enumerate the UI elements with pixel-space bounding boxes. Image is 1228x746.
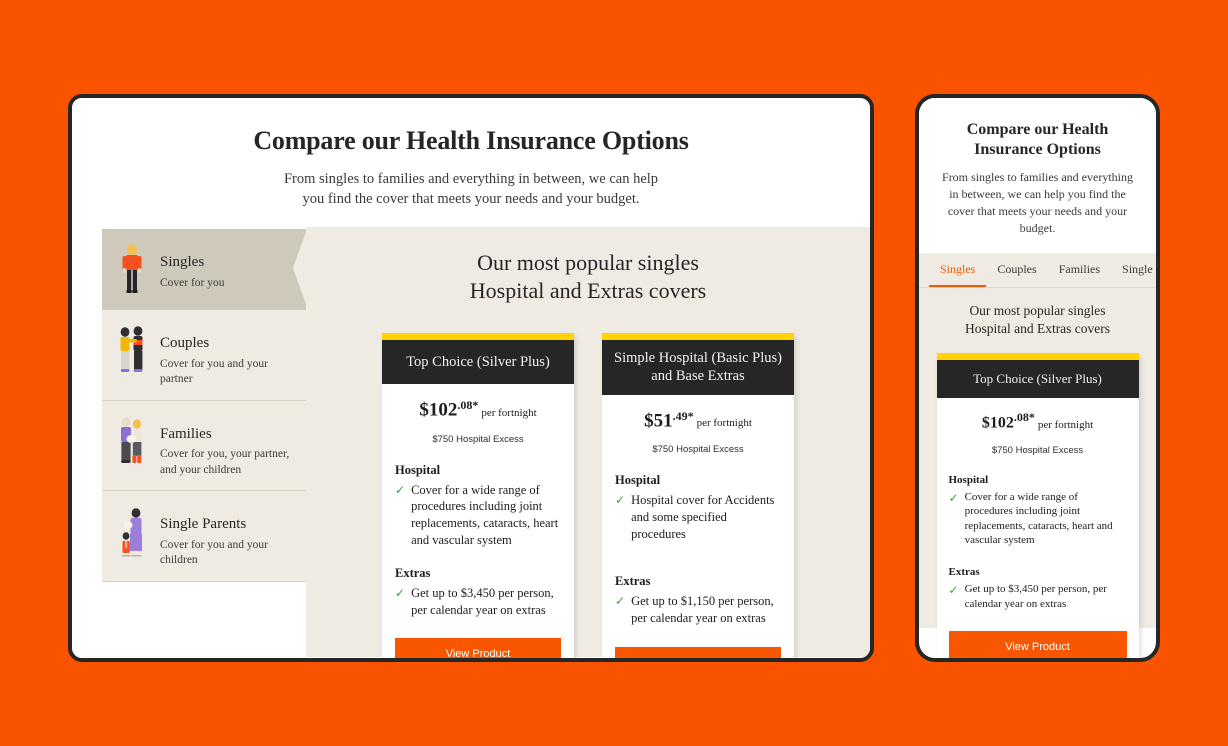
sidebar-item-couples-text: Couples Cover for you and your partner <box>160 322 296 388</box>
plan-price-cents: .08* <box>1014 410 1035 424</box>
hospital-feature: ✓ Hospital cover for Accidents and some … <box>615 492 781 542</box>
plan-name: Top Choice (Silver Plus) <box>937 360 1139 398</box>
plan-excess: $750 Hospital Excess <box>615 444 781 455</box>
extras-feature: ✓ Get up to $3,450 per person, per calen… <box>395 585 561 618</box>
page-root: Compare our Health Insurance Options Fro… <box>0 0 1228 746</box>
hospital-feature: ✓ Cover for a wide range of procedures i… <box>395 482 561 549</box>
hospital-section-label: Hospital <box>949 474 1127 486</box>
sidebar-item-label: Singles <box>160 254 225 271</box>
plans-heading-line-1: Our most popular singles <box>332 249 844 277</box>
plan-card: Simple Hospital (Basic Plus) and Base Ex… <box>602 333 794 662</box>
mobile-page-title-line-2: Insurance Options <box>941 140 1134 160</box>
view-product-button[interactable]: View Product <box>949 631 1127 662</box>
plan-price-dollars: $102 <box>982 415 1014 432</box>
page-subtitle: From singles to families and everything … <box>132 169 810 209</box>
check-icon: ✓ <box>949 582 959 611</box>
check-icon: ✓ <box>395 585 405 618</box>
hospital-feature: ✓ Cover for a wide range of procedures i… <box>949 490 1127 549</box>
plan-price-period: per fortnight <box>697 417 752 429</box>
people-family-icon <box>112 413 152 469</box>
plans-content: Our most popular singles Hospital and Ex… <box>306 227 870 657</box>
view-product-button[interactable]: View Product <box>395 638 561 662</box>
desktop-body: Singles Cover for you <box>72 227 870 657</box>
extras-feature-text: Get up to $3,450 per person, per calenda… <box>965 582 1127 611</box>
sidebar-item-single-parents[interactable]: Single Parents Cover for you and your ch… <box>102 491 306 582</box>
extras-section-label: Extras <box>615 574 781 589</box>
plan-card-body: $51.49*per fortnight $750 Hospital Exces… <box>602 395 794 662</box>
person-single-icon <box>112 241 152 297</box>
plan-price-cents: .08* <box>457 398 478 412</box>
plan-card-body: $102.08*per fortnight $750 Hospital Exce… <box>382 384 574 662</box>
check-icon: ✓ <box>615 593 625 626</box>
hospital-feature-text: Cover for a wide range of procedures inc… <box>965 490 1127 549</box>
check-icon: ✓ <box>949 490 959 549</box>
extras-feature-text: Get up to $3,450 per person, per calenda… <box>411 585 561 618</box>
sidebar-item-singles-text: Singles Cover for you <box>160 241 225 291</box>
sidebar-item-desc: Cover for you and your children <box>160 538 296 569</box>
sidebar-item-couples[interactable]: Couples Cover for you and your partner <box>102 310 306 401</box>
audience-sidebar: Singles Cover for you <box>102 227 306 657</box>
tab-single-parents[interactable]: Single P <box>1111 253 1156 287</box>
extras-feature: ✓ Get up to $1,150 per person, per calen… <box>615 593 781 626</box>
plan-card: Top Choice (Silver Plus) $102.08*per for… <box>382 333 574 662</box>
plans-heading-line-2: Hospital and Extras covers <box>332 277 844 305</box>
extras-section-label: Extras <box>949 566 1127 578</box>
sidebar-item-families[interactable]: Families Cover for you, your partner, an… <box>102 401 306 492</box>
mobile-preview-panel: Compare our Health Insurance Options Fro… <box>915 94 1160 662</box>
mobile-page-subtitle: From singles to families and everything … <box>941 169 1134 237</box>
plan-name: Top Choice (Silver Plus) <box>382 340 574 384</box>
sidebar-item-single-parents-text: Single Parents Cover for you and your ch… <box>160 503 296 569</box>
hospital-section-label: Hospital <box>395 463 561 478</box>
hospital-feature-text: Hospital cover for Accidents and some sp… <box>631 492 781 542</box>
plan-price-dollars: $102 <box>419 400 457 421</box>
view-product-button[interactable]: View Product <box>615 647 781 662</box>
page-subtitle-line-1: From singles to families and everything … <box>132 169 810 189</box>
sidebar-item-desc: Cover for you <box>160 276 225 292</box>
plan-price: $51.49*per fortnight <box>615 409 781 432</box>
card-accent-bar <box>937 353 1139 360</box>
mobile-plans-heading: Our most popular singles Hospital and Ex… <box>933 302 1142 337</box>
sidebar-item-families-text: Families Cover for you, your partner, an… <box>160 413 296 479</box>
desktop-header: Compare our Health Insurance Options Fro… <box>72 98 870 227</box>
plan-price: $102.08*per fortnight <box>949 410 1127 432</box>
mobile-page-title: Compare our Health Insurance Options <box>941 120 1134 159</box>
plan-card-body: $102.08*per fortnight $750 Hospital Exce… <box>937 398 1139 662</box>
extras-feature-text: Get up to $1,150 per person, per calenda… <box>631 593 781 626</box>
extras-section-label: Extras <box>395 566 561 581</box>
sidebar-item-desc: Cover for you and your partner <box>160 357 296 388</box>
plan-price-cents: .49* <box>673 409 694 423</box>
sidebar-item-label: Couples <box>160 335 296 352</box>
mobile-audience-tabs: Singles Couples Families Single P <box>919 253 1156 288</box>
mobile-header: Compare our Health Insurance Options Fro… <box>919 98 1156 253</box>
hospital-feature-text: Cover for a wide range of procedures inc… <box>411 482 561 549</box>
tab-couples[interactable]: Couples <box>986 253 1047 287</box>
check-icon: ✓ <box>615 492 625 542</box>
plan-price: $102.08*per fortnight <box>395 398 561 421</box>
page-title: Compare our Health Insurance Options <box>132 126 810 156</box>
page-subtitle-line-2: you find the cover that meets your needs… <box>132 189 810 209</box>
mobile-plans-content: Our most popular singles Hospital and Ex… <box>919 288 1156 628</box>
tab-singles[interactable]: Singles <box>929 253 986 287</box>
hospital-section-label: Hospital <box>615 473 781 488</box>
mobile-page-title-line-1: Compare our Health <box>941 120 1134 140</box>
sidebar-item-label: Families <box>160 426 296 443</box>
plan-name: Simple Hospital (Basic Plus) and Base Ex… <box>602 340 794 395</box>
card-accent-bar <box>602 333 794 340</box>
sidebar-item-singles[interactable]: Singles Cover for you <box>102 229 306 310</box>
feature-spacer <box>615 542 781 556</box>
plans-heading: Our most popular singles Hospital and Ex… <box>332 249 844 305</box>
mobile-plans-heading-line-1: Our most popular singles <box>933 302 1142 320</box>
plan-excess: $750 Hospital Excess <box>395 434 561 445</box>
tab-families[interactable]: Families <box>1048 253 1111 287</box>
sidebar-item-desc: Cover for you, your partner, and your ch… <box>160 447 296 478</box>
desktop-preview-panel: Compare our Health Insurance Options Fro… <box>68 94 874 662</box>
plan-price-period: per fortnight <box>481 407 536 419</box>
sidebar-item-label: Single Parents <box>160 516 296 533</box>
plan-excess: $750 Hospital Excess <box>949 445 1127 456</box>
extras-feature: ✓ Get up to $3,450 per person, per calen… <box>949 582 1127 611</box>
mobile-plan-card: Top Choice (Silver Plus) $102.08*per for… <box>937 353 1139 662</box>
plan-price-period: per fortnight <box>1038 419 1093 431</box>
people-single-parent-icon <box>112 503 152 559</box>
card-accent-bar <box>382 333 574 340</box>
check-icon: ✓ <box>395 482 405 549</box>
plan-card-list: Top Choice (Silver Plus) $102.08*per for… <box>332 333 844 662</box>
plan-price-dollars: $51 <box>644 410 673 431</box>
people-couple-icon <box>112 322 152 378</box>
mobile-plans-heading-line-2: Hospital and Extras covers <box>933 320 1142 338</box>
